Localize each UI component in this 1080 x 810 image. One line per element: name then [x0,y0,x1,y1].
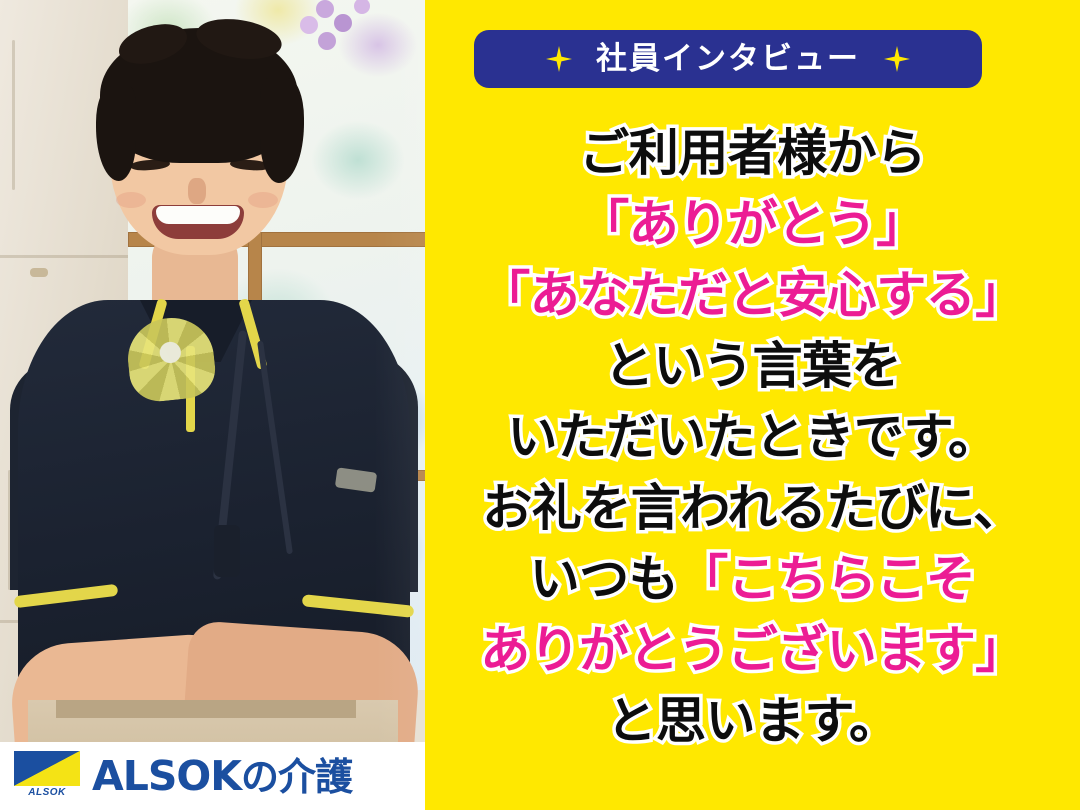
brand-logo-text: ALSOKの介護 [92,756,352,797]
brand-logo-bar: ALSOK ALSOKの介護 [0,742,425,810]
headline-segment: ありがとうございます」 [480,621,1025,679]
headline-line-1: ご利用者様から [425,118,1080,189]
headline-segment: と思います。 [607,692,899,750]
photo-panel: ALSOK ALSOKの介護 [0,0,425,810]
sparkle-icon [884,45,910,73]
interview-ribbon-badge: 社員インタビュー [474,30,982,88]
headline-segment: お礼を言われるたびに、 [482,479,1023,537]
photo-overlay [0,0,425,810]
headline-segment: 「こちらこそ [678,550,975,608]
sparkle-icon [546,45,572,73]
headline-segment: 「あなただと安心する」 [480,266,1025,324]
poster-root: ALSOK ALSOKの介護 社員インタビュー ご利用者様から「ありがとう」「あ… [0,0,1080,810]
headline-segment: いただいたときです。 [508,408,998,466]
headline-segment: いつも [530,550,679,608]
headline-line-7: いつも「こちらこそ [425,544,1080,615]
headline-line-8: ありがとうございます」 [425,615,1080,686]
headline-segment: ご利用者様から [579,124,926,182]
logo-mark-caption: ALSOK [28,786,66,800]
ribbon-label: 社員インタビュー [596,44,860,75]
headline-line-6: お礼を言われるたびに、 [425,473,1080,544]
headline-line-5: いただいたときです。 [425,402,1080,473]
logo-square [14,751,80,786]
headline-segment: という言葉を [604,337,901,395]
headline-line-4: という言葉を [425,331,1080,402]
headline-line-9: と思います。 [425,686,1080,757]
alsok-diagonal-mark-icon: ALSOK [14,751,80,801]
headline-block: ご利用者様から「ありがとう」「あなただと安心する」という言葉をいただいたときです… [425,118,1080,757]
headline-line-2: 「ありがとう」 [425,189,1080,260]
headline-line-3: 「あなただと安心する」 [425,260,1080,331]
headline-segment: 「ありがとう」 [579,195,926,253]
brand-name: ALSOK [92,752,241,800]
brand-suffix: の介護 [241,755,352,799]
message-panel: 社員インタビュー ご利用者様から「ありがとう」「あなただと安心する」という言葉を… [425,0,1080,810]
